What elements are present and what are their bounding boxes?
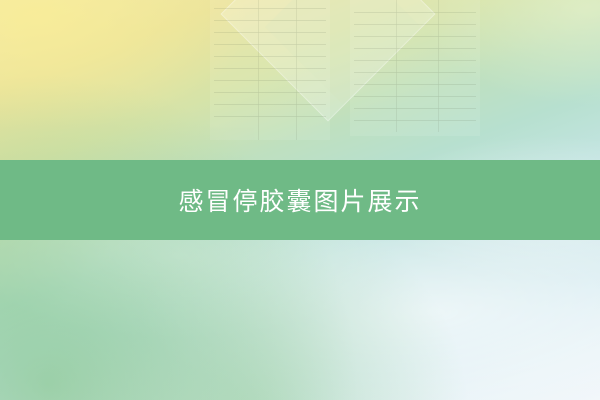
document-texture [200, 0, 500, 160]
title-band: 感冒停胶囊图片展示 [0, 160, 600, 240]
banner-image: 感冒停胶囊图片展示 [0, 0, 600, 400]
page-title: 感冒停胶囊图片展示 [178, 182, 421, 218]
